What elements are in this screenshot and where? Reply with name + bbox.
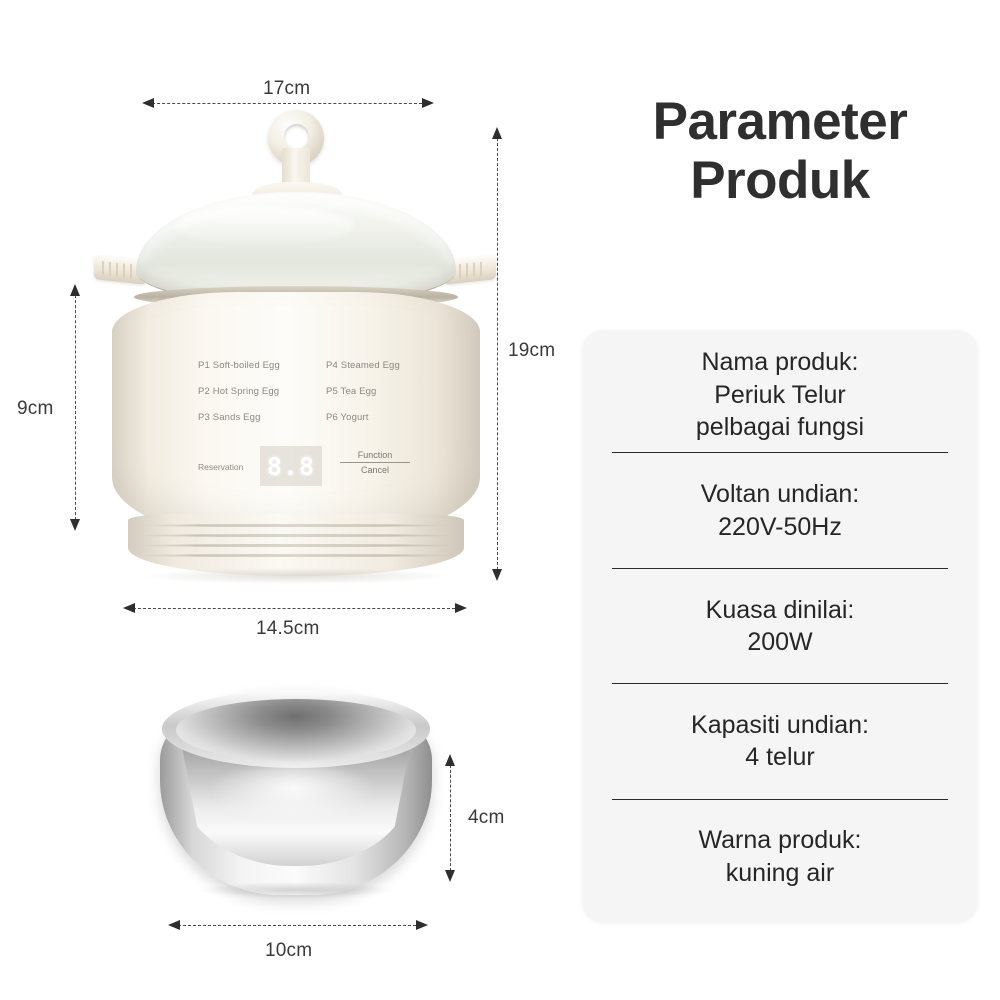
arrow-up-height-total (492, 127, 502, 139)
handle-ribs-right (452, 261, 486, 279)
product-figure: 17cm 9cm 19cm 14.5cm P1 Soft-boiled Egg (0, 0, 560, 660)
panel-bottom-row: Reservation 8.8 Function Cancel (198, 448, 428, 484)
bowl-interior (176, 699, 416, 761)
dimension-line-height-total (497, 138, 498, 570)
arrow-right-bowl-diameter (416, 920, 428, 930)
program-label-p3[interactable]: P3 Sands Egg (198, 412, 316, 423)
dimension-line-width-base (133, 608, 455, 609)
arrow-right-width-top (422, 98, 434, 108)
program-label-p1[interactable]: P1 Soft-boiled Egg (198, 360, 316, 371)
program-label-p6[interactable]: P6 Yogurt (326, 412, 428, 423)
lid-knob-hole (284, 124, 309, 149)
control-panel: P1 Soft-boiled Egg P2 Hot Spring Egg P3 … (198, 360, 428, 485)
spec-text-color: Warna produk: kuning air (698, 824, 861, 889)
bowl-highlight (208, 764, 378, 824)
dimension-line-height-panel (75, 295, 76, 520)
dimension-line-bowl-height (450, 765, 451, 871)
spec-text-voltage: Voltan undian: 220V-50Hz (701, 478, 859, 543)
spec-text-capacity: Kapasiti undian: 4 telur (691, 709, 869, 774)
dimension-label-width-top: 17cm (263, 78, 310, 100)
dimension-label-height-total: 19cm (508, 340, 555, 362)
spec-text-product-name: Nama produk: Periuk Telur pelbagai fungs… (696, 346, 864, 444)
page-title-line2: Produk (560, 151, 1000, 210)
base-ridge-4 (140, 554, 452, 557)
spec-text-power: Kuasa dinilai: 200W (706, 594, 855, 659)
function-label: Function (340, 450, 410, 463)
spec-row-power: Kuasa dinilai: 200W (612, 569, 948, 684)
arrow-up-height-panel (70, 284, 80, 296)
handle-ribs-left (102, 261, 136, 279)
glass-lid-highlight (174, 206, 354, 246)
page-title-line1: Parameter (560, 92, 1000, 151)
spec-row-product-name: Nama produk: Periuk Telur pelbagai fungs… (612, 338, 948, 453)
page-title: Parameter Produk (560, 92, 1000, 211)
egg-cooker-illustration: P1 Soft-boiled Egg P2 Hot Spring Egg P3 … (100, 110, 490, 590)
program-column-left: P1 Soft-boiled Egg P2 Hot Spring Egg P3 … (198, 360, 316, 438)
dimension-label-width-base: 14.5cm (256, 618, 320, 640)
dimension-line-width-top (152, 103, 422, 104)
function-cancel-button[interactable]: Function Cancel (340, 450, 410, 475)
program-label-p5[interactable]: P5 Tea Egg (326, 386, 428, 397)
inner-bowl-figure: 4cm 10cm (0, 655, 560, 1000)
dimension-line-bowl-diameter (178, 925, 416, 926)
bowl-drop-shadow (200, 882, 392, 898)
arrow-down-height-panel (70, 519, 80, 531)
specification-card: Nama produk: Periuk Telur pelbagai fungs… (582, 330, 978, 922)
spec-row-color: Warna produk: kuning air (612, 800, 948, 914)
reservation-button[interactable]: Reservation (198, 462, 243, 472)
dimension-label-bowl-diameter: 10cm (265, 940, 312, 962)
dimension-label-height-panel: 9cm (17, 398, 54, 420)
base-ridge-2 (140, 534, 452, 537)
arrow-left-width-base (123, 603, 135, 613)
specification-panel: Parameter Produk Nama produk: Periuk Tel… (560, 0, 1000, 1000)
arrow-left-width-top (142, 98, 154, 108)
cooker-drop-shadow (144, 568, 450, 584)
arrow-up-bowl-height (445, 754, 455, 766)
spec-row-voltage: Voltan undian: 220V-50Hz (612, 453, 948, 568)
program-label-p4[interactable]: P4 Steamed Egg (326, 360, 428, 371)
base-ridge-3 (138, 544, 454, 547)
led-display-value: 8.8 (267, 452, 315, 481)
arrow-right-width-base (455, 603, 467, 613)
arrow-down-height-total (492, 569, 502, 581)
arrow-left-bowl-diameter (168, 920, 180, 930)
spec-row-capacity: Kapasiti undian: 4 telur (612, 684, 948, 799)
led-display: 8.8 (260, 446, 322, 486)
program-label-p2[interactable]: P2 Hot Spring Egg (198, 386, 316, 397)
stainless-steel-bowl-illustration (160, 690, 432, 895)
base-ridge-1 (144, 524, 448, 527)
program-column-right: P4 Steamed Egg P5 Tea Egg P6 Yogurt (326, 360, 428, 438)
dimension-label-bowl-height: 4cm (468, 807, 505, 829)
cancel-label: Cancel (340, 463, 410, 475)
arrow-down-bowl-height (445, 870, 455, 882)
